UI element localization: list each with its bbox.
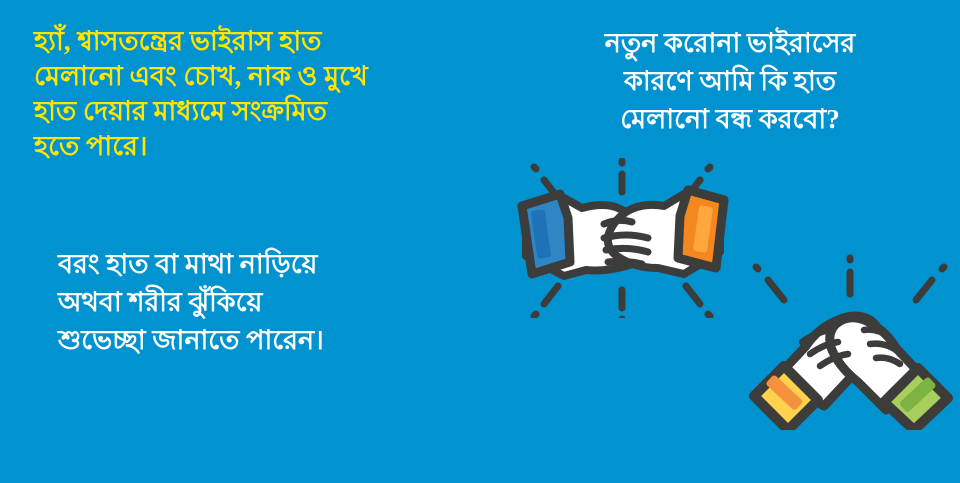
answer-line-4: হতে পারে। <box>34 129 494 164</box>
footer: World Health Organization #Coronavirus #… <box>0 403 960 483</box>
answer-line-2: মেলানো এবং চোখ, নাক ও মুখে <box>34 59 494 94</box>
who-covid-infographic: হ্যাঁ, শ্বাসতন্ত্রের ভাইরাস হাত মেলানো এ… <box>0 0 960 483</box>
handshake-hands <box>522 190 724 276</box>
clasped-hands-rays <box>756 258 944 300</box>
question-line-1: নতুন করোনা ভাইরাসের <box>500 24 960 62</box>
advice-text-block: বরং হাত বা মাথা নাড়িয়ে অথবা শরীর ঝুঁকি… <box>58 245 498 359</box>
answer-line-3: হাত দেয়ার মাধ্যমে সংক্রমিত <box>34 94 494 129</box>
advice-line-3: শুভেচ্ছা জানাতে পারেন। <box>58 321 498 359</box>
question-line-2: কারণে আমি কি হাত <box>500 62 960 100</box>
advice-line-2: অথবা শরীর ঝুঁকিয়ে <box>58 283 498 321</box>
question-line-3: মেলানো বন্ধ করবো? <box>500 100 960 138</box>
left-column: হ্যাঁ, শ্বাসতন্ত্রের ভাইরাস হাত মেলানো এ… <box>0 0 500 400</box>
handshake-illustration <box>508 158 738 318</box>
question-text-block: নতুন করোনা ভাইরাসের কারণে আমি কি হাত মেল… <box>500 24 960 138</box>
advice-line-1: বরং হাত বা মাথা নাড়িয়ে <box>58 245 498 283</box>
answer-text-block: হ্যাঁ, শ্বাসতন্ত্রের ভাইরাস হাত মেলানো এ… <box>20 24 494 164</box>
answer-line-1: হ্যাঁ, শ্বাসতন্ত্রের ভাইরাস হাত <box>34 24 494 59</box>
